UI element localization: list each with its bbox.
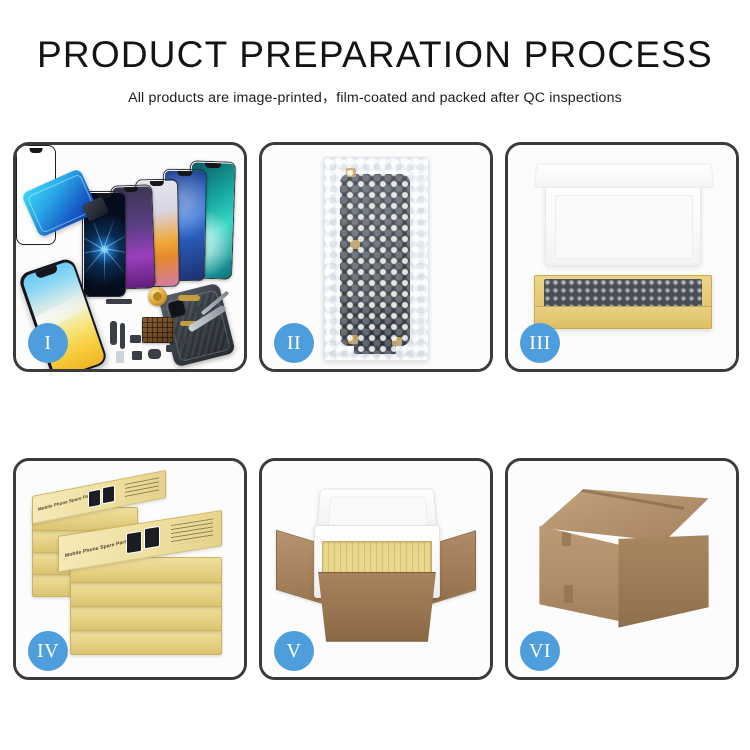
spare-parts-cluster: [104, 273, 232, 372]
step-panel-6: VI: [505, 458, 739, 680]
header: PRODUCT PREPARATION PROCESS All products…: [0, 36, 750, 107]
step-panel-2: II: [259, 142, 493, 372]
stacked-box: [70, 605, 222, 631]
step-badge-6: VI: [520, 631, 560, 671]
stacked-box: [70, 629, 222, 655]
bubble-wrap-bag: [323, 157, 429, 361]
carton-left-face: [539, 526, 620, 621]
process-grid: I II: [13, 142, 739, 682]
step-badge-1: I: [28, 323, 68, 363]
bubble-texture: [324, 158, 428, 360]
step-panel-1: I: [13, 142, 247, 372]
step-badge-5: V: [274, 631, 314, 671]
step-panel-3: III: [505, 142, 739, 372]
step-panel-5: V: [259, 458, 493, 680]
carton-right-face: [618, 535, 708, 627]
step-badge-2: II: [274, 323, 314, 363]
stacked-box: [70, 581, 222, 607]
bubble-wrap-fill: [544, 279, 703, 308]
page-title: PRODUCT PREPARATION PROCESS: [0, 36, 750, 75]
sealed-carton: [532, 489, 716, 643]
yellow-box-tray: [534, 275, 713, 329]
step-panel-4: Mobile Phone Spare Parts Mobile Phone Sp…: [13, 458, 247, 680]
shipping-carton-open: [276, 483, 476, 645]
carton-body: [310, 572, 444, 642]
inner-box-open: [530, 167, 714, 329]
step-badge-3: III: [520, 323, 560, 363]
foam-lid: [545, 167, 702, 266]
step-badge-4: IV: [28, 631, 68, 671]
page-subtitle: All products are image-printed，film-coat…: [0, 87, 750, 107]
product-preparation-infographic: PRODUCT PREPARATION PROCESS All products…: [0, 0, 750, 750]
